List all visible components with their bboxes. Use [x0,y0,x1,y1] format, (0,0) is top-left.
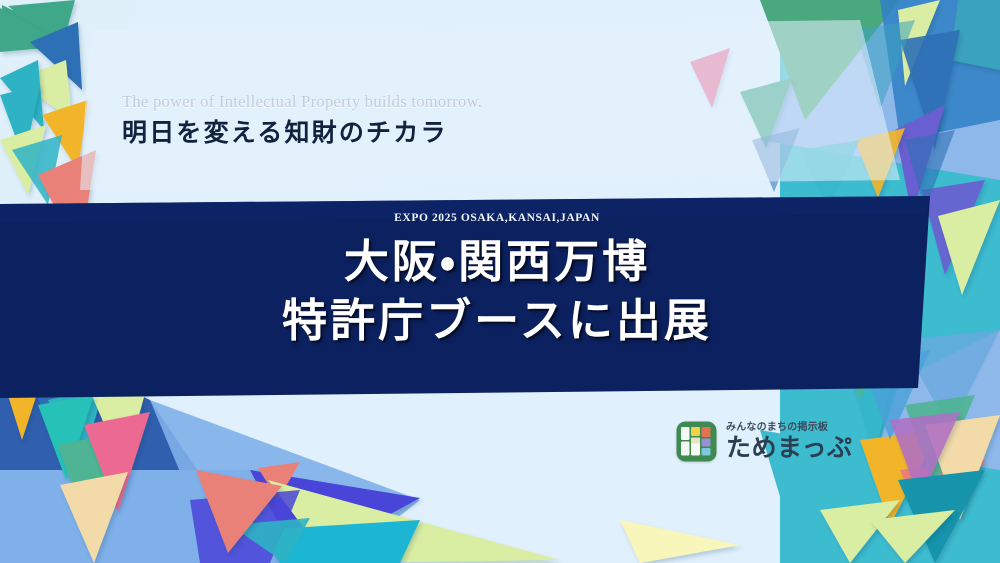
tagline-english: The power of Intellectual Property build… [122,92,642,112]
poster-canvas: The power of Intellectual Property build… [0,0,1000,563]
tamemap-logo-name: ためまっぷ [726,434,853,462]
tamemap-logo-text: みんなのまちの掲示板 ためまっぷ [726,422,853,462]
tamemap-logo-lockup[interactable]: みんなのまちの掲示板 ためまっぷ [676,421,853,462]
tamemap-logo-subtitle: みんなのまちの掲示板 [726,422,853,433]
tamemap-grid-logo-icon [676,421,717,462]
tagline-block: The power of Intellectual Property build… [122,92,642,149]
tagline-japanese: 明日を変える知財のチカラ [122,117,642,150]
navy-banner: EXPO 2025 OSAKA,KANSAI,JAPAN 大阪・関西万博 特許庁… [0,192,1000,402]
navy-banner-shape [0,192,1000,402]
